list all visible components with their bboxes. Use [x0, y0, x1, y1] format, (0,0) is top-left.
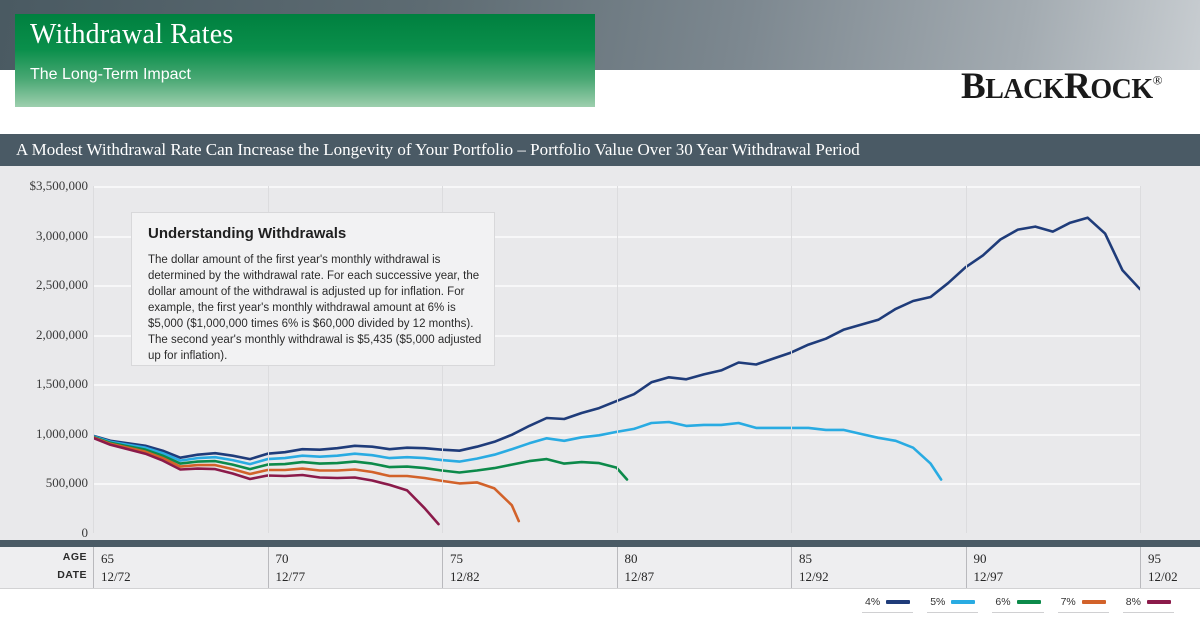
axis-date-value: 12/02: [1148, 569, 1178, 585]
brand-b: B: [961, 66, 985, 107]
axis-date-value: 12/72: [101, 569, 131, 585]
blackrock-logo: BLACKROCK®: [961, 68, 1162, 105]
axis-age-value: 85: [799, 551, 812, 567]
legend-label: 6%: [995, 596, 1010, 608]
legend-item-4pct[interactable]: 4%: [862, 594, 913, 613]
y-axis-tick-label: 1,500,000: [36, 376, 88, 392]
legend-swatch: [1017, 600, 1041, 604]
chart-vertical-separator: [617, 186, 618, 533]
legend-swatch: [886, 600, 910, 604]
axis-tick: [966, 547, 967, 588]
legend-swatch: [1147, 600, 1171, 604]
chart-legend: 4%5%6%7%8%: [862, 590, 1174, 616]
legend-item-6pct[interactable]: 6%: [992, 594, 1043, 613]
legend-swatch: [951, 600, 975, 604]
y-axis-tick-label: 2,000,000: [36, 327, 88, 343]
axis-date-value: 12/87: [625, 569, 655, 585]
axis-tick: [617, 547, 618, 588]
axis-top-rule: [0, 540, 1200, 547]
legend-swatch: [1082, 600, 1106, 604]
axis-age-value: 95: [1148, 551, 1161, 567]
brand-ock: OCK: [1090, 74, 1152, 105]
chart-vertical-separator: [93, 186, 94, 533]
axis-age-value: 80: [625, 551, 638, 567]
axis-label-band: [0, 547, 1200, 589]
legend-label: 5%: [930, 596, 945, 608]
axis-tick: [1140, 547, 1141, 588]
chart-vertical-separator: [791, 186, 792, 533]
chart-vertical-separator: [966, 186, 967, 533]
chart-vertical-separator: [1140, 186, 1141, 533]
y-axis-tick-label: 0: [82, 525, 89, 541]
page-title: Withdrawal Rates: [30, 19, 233, 51]
brand-r: R: [1064, 66, 1090, 107]
legend-label: 7%: [1061, 596, 1076, 608]
axis-age-value: 70: [276, 551, 289, 567]
legend-item-7pct[interactable]: 7%: [1058, 594, 1109, 613]
y-axis-tick-label: 2,500,000: [36, 277, 88, 293]
axis-tick: [791, 547, 792, 588]
axis-tick: [93, 547, 94, 588]
legend-label: 8%: [1126, 596, 1141, 608]
brand-lack: LACK: [985, 74, 1064, 105]
page-subtitle: The Long-Term Impact: [30, 66, 191, 84]
y-axis-tick-label: 500,000: [46, 475, 88, 491]
legend-item-5pct[interactable]: 5%: [927, 594, 978, 613]
axis-date-value: 12/97: [974, 569, 1004, 585]
axis-date-value: 12/82: [450, 569, 480, 585]
y-axis-tick-label: 3,000,000: [36, 228, 88, 244]
axis-tick: [268, 547, 269, 588]
section-heading-text: A Modest Withdrawal Rate Can Increase th…: [16, 140, 860, 160]
legend-label: 4%: [865, 596, 880, 608]
axis-date-row-label: DATE: [57, 569, 87, 581]
callout-understanding-withdrawals: Understanding Withdrawals The dollar amo…: [131, 212, 495, 366]
y-axis-tick-label: 1,000,000: [36, 426, 88, 442]
axis-date-value: 12/77: [276, 569, 306, 585]
registered-mark-icon: ®: [1153, 73, 1162, 88]
callout-title: Understanding Withdrawals: [148, 225, 346, 242]
axis-age-value: 75: [450, 551, 463, 567]
callout-body: The dollar amount of the first year's mo…: [148, 252, 484, 364]
axis-age-value: 90: [974, 551, 987, 567]
y-axis-tick-label: $3,500,000: [30, 178, 89, 194]
axis-age-value: 65: [101, 551, 114, 567]
axis-tick: [442, 547, 443, 588]
section-heading-bar: A Modest Withdrawal Rate Can Increase th…: [0, 134, 1200, 166]
legend-item-8pct[interactable]: 8%: [1123, 594, 1174, 613]
axis-date-value: 12/92: [799, 569, 829, 585]
axis-age-row-label: AGE: [63, 551, 87, 563]
